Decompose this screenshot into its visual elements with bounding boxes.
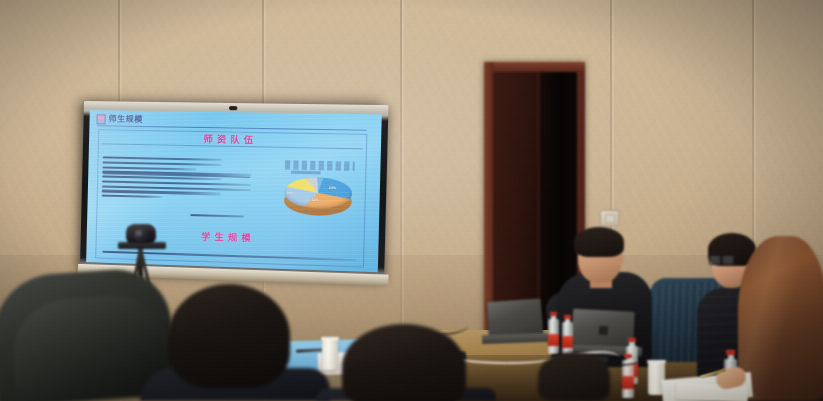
eyeglass-lens [722, 255, 734, 265]
video-camera-icon [126, 224, 156, 243]
bottle-label [622, 376, 634, 389]
camera-lens-icon [134, 229, 147, 241]
foreground-person-head [538, 352, 610, 401]
meeting-room-photo: 师生规模 师资队伍 [0, 0, 823, 401]
foreground-person-head [168, 284, 290, 388]
chair-cushion-seam [9, 293, 165, 399]
cup-lid [647, 360, 666, 363]
laptop-logo [599, 326, 608, 335]
eyeglasses-icon [709, 255, 733, 263]
camera-dot-icon [229, 106, 237, 110]
speaker-hair [574, 227, 624, 257]
cup-lid [321, 337, 339, 340]
tripod-column [138, 246, 143, 276]
eyeglass-lens [709, 255, 721, 265]
camera-arm [127, 226, 134, 243]
foreground-person-head [342, 324, 466, 401]
tripod-mount-plate [118, 242, 166, 249]
light-switch-icon[interactable] [600, 210, 619, 226]
bottle-label [562, 336, 573, 348]
laptop-screen-lid [487, 298, 543, 337]
laptop-left[interactable] [482, 300, 548, 342]
paper-cup[interactable] [322, 339, 338, 370]
